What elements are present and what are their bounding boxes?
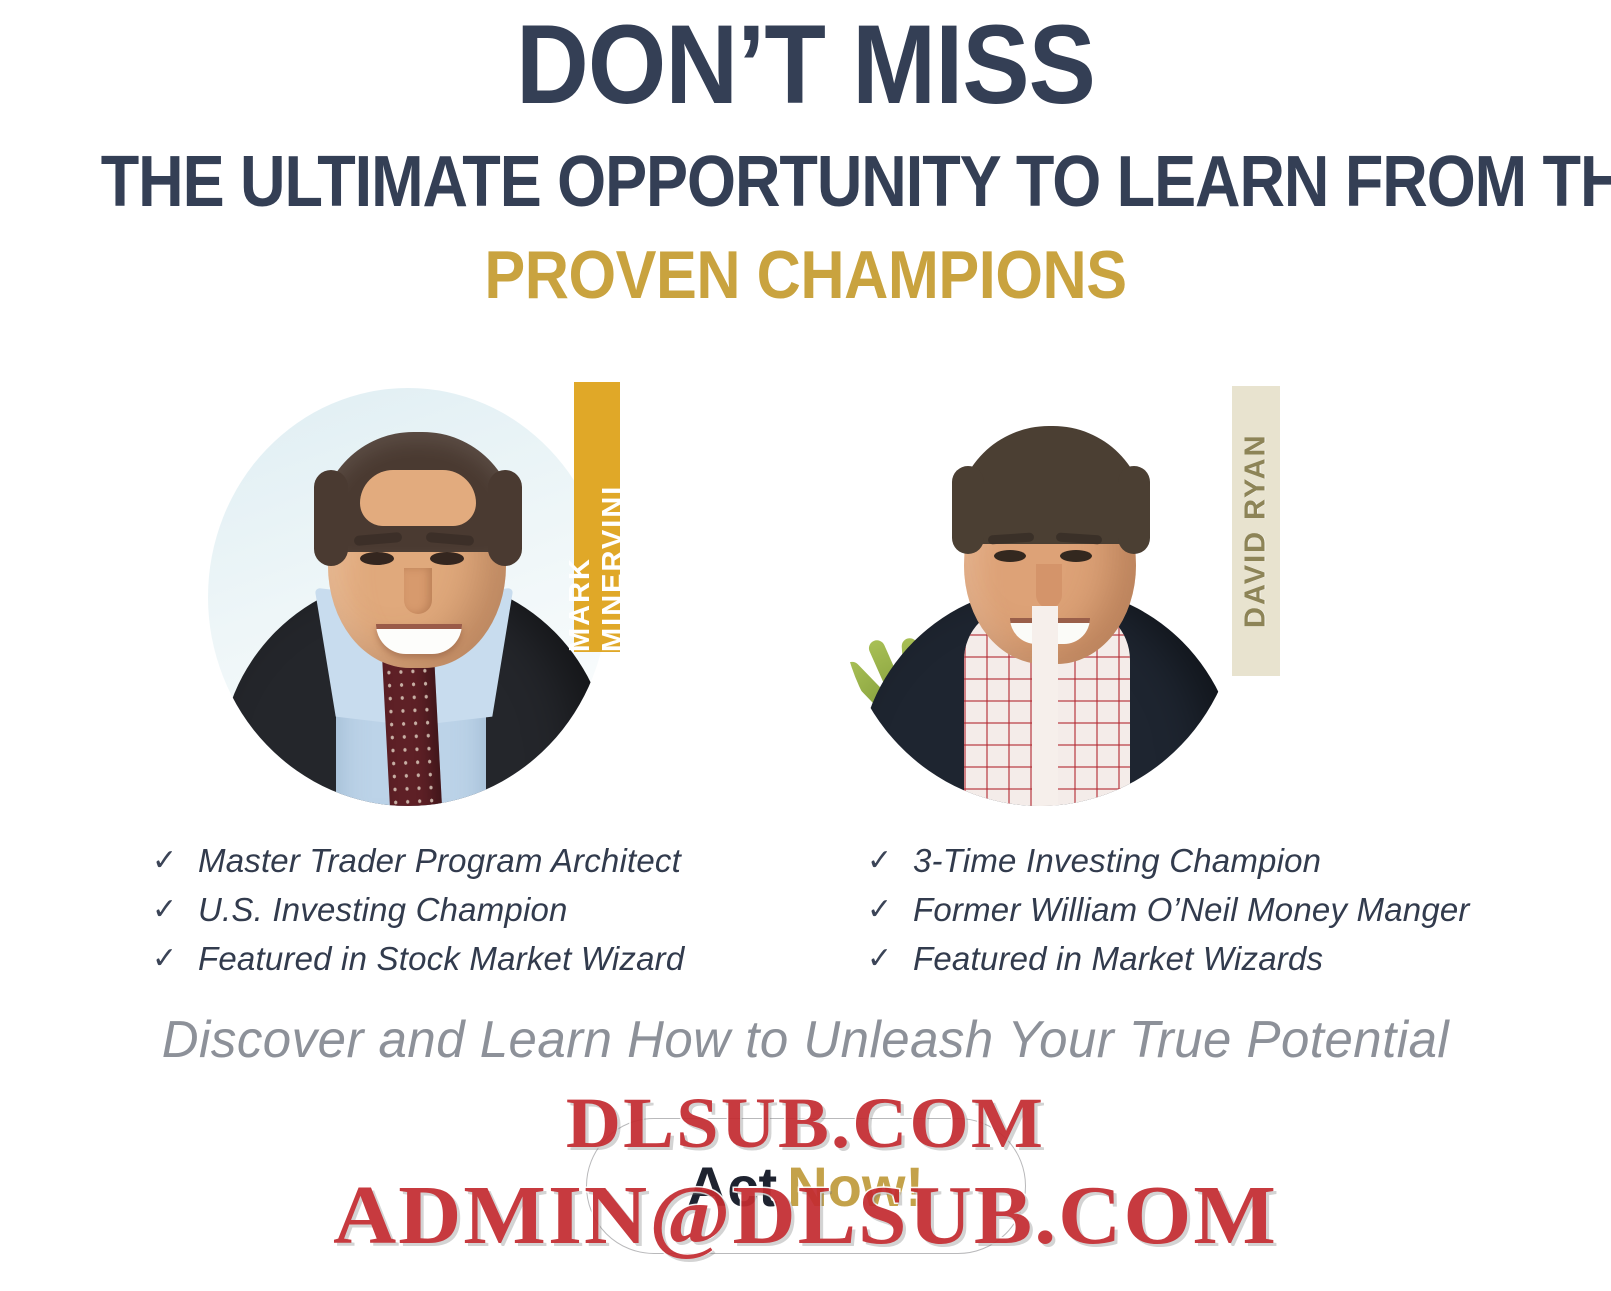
eye-left-shape (360, 552, 394, 565)
eye-right-shape (430, 552, 464, 565)
bullet-item: ✓ Featured in Market Wizards (867, 940, 1610, 989)
headline-line-2: THE ULTIMATE OPPORTUNITY TO LEARN FROM T… (101, 144, 1511, 222)
check-icon: ✓ (867, 944, 913, 974)
bullet-label: Featured in Market Wizards (913, 940, 1323, 978)
champion-card-david: DAVID RYAN (805, 376, 1610, 806)
check-icon: ✓ (867, 895, 913, 925)
tagline: Discover and Learn How to Unleash Your T… (16, 1010, 1595, 1070)
bullet-item: ✓ U.S. Investing Champion (152, 891, 805, 940)
nose-shape (404, 568, 432, 614)
bullet-label: U.S. Investing Champion (198, 891, 568, 929)
bullet-item: ✓ Featured in Stock Market Wizard (152, 940, 805, 989)
bullet-item: ✓ Former William O’Neil Money Manger (867, 891, 1610, 940)
bullet-item: ✓ 3-Time Investing Champion (867, 842, 1610, 891)
headline-block: DON’T MISS THE ULTIMATE OPPORTUNITY TO L… (0, 0, 1611, 311)
headline-line-1: DON’T MISS (81, 8, 1531, 122)
champions-row: MARK MINERVINI (0, 376, 1611, 806)
bullet-label: 3-Time Investing Champion (913, 842, 1321, 880)
headline-line-3: PROVEN CHAMPIONS (81, 240, 1531, 311)
check-icon: ✓ (152, 944, 198, 974)
watermark-email: ADMIN@DLSUB.COM (0, 1167, 1611, 1264)
photo-wrap-david: DAVID RYAN (830, 376, 1250, 806)
champion-card-mark: MARK MINERVINI (0, 376, 805, 806)
watermark-site: DLSUB.COM (0, 1082, 1611, 1165)
bullet-list-mark: ✓ Master Trader Program Architect ✓ U.S.… (0, 842, 805, 989)
photo-wrap-mark: MARK MINERVINI (198, 376, 618, 806)
name-banner-mark: MARK MINERVINI (574, 382, 620, 652)
portrait-photo-mark (208, 388, 608, 806)
promo-page: DON’T MISS THE ULTIMATE OPPORTUNITY TO L… (0, 0, 1611, 1291)
check-icon: ✓ (152, 895, 198, 925)
eye-left-shape (994, 550, 1026, 562)
check-icon: ✓ (867, 846, 913, 876)
bullet-label: Former William O’Neil Money Manger (913, 891, 1470, 929)
portrait-photo-david (840, 388, 1240, 806)
shirt-placket-shape (1032, 606, 1058, 806)
forehead-shape (360, 470, 476, 526)
nose-shape (1036, 564, 1062, 608)
bullet-label: Master Trader Program Architect (198, 842, 681, 880)
check-icon: ✓ (152, 846, 198, 876)
eye-right-shape (1060, 550, 1092, 562)
bullet-list-david: ✓ 3-Time Investing Champion ✓ Former Wil… (805, 842, 1610, 989)
bullet-label: Featured in Stock Market Wizard (198, 940, 684, 978)
name-banner-david: DAVID RYAN (1232, 386, 1280, 676)
bullet-item: ✓ Master Trader Program Architect (152, 842, 805, 891)
